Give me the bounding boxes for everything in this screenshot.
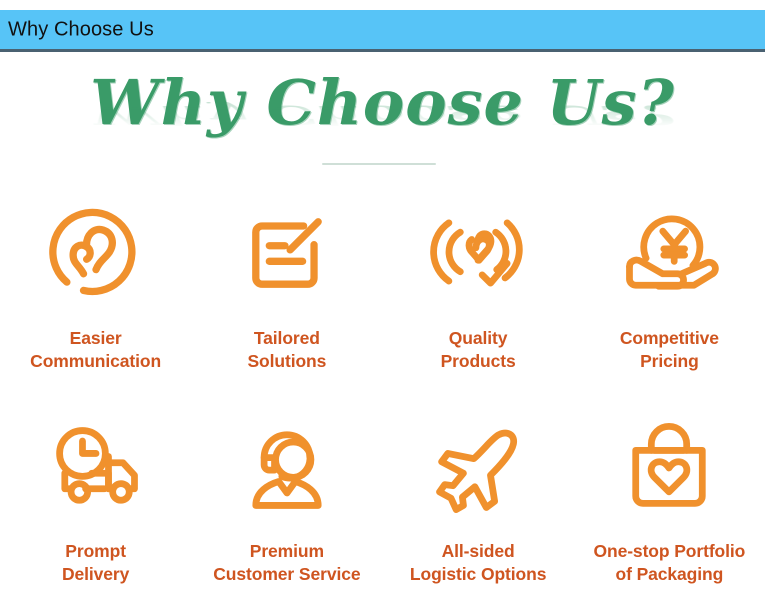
feature-label: Tailored Solutions	[247, 327, 326, 374]
window-title: Why Choose Us	[8, 18, 154, 41]
quality-products-icon	[426, 201, 530, 305]
all-sided-logistic-options-icon	[426, 416, 530, 520]
feature-item-easier-communication[interactable]: Easier Communication	[0, 195, 191, 410]
features-grid: Easier Communication Tailored Solutions	[0, 195, 765, 599]
easier-communication-icon	[44, 201, 148, 305]
feature-label: All-sided Logistic Options	[410, 540, 546, 587]
title-divider	[322, 163, 436, 165]
feature-item-premium-customer-service[interactable]: Premium Customer Service	[191, 410, 382, 599]
feature-label: Competitive Pricing	[620, 327, 719, 374]
feature-item-prompt-delivery[interactable]: Prompt Delivery	[0, 410, 191, 599]
feature-item-all-sided-logistic-options[interactable]: All-sided Logistic Options	[383, 410, 574, 599]
feature-label: Quality Products	[441, 327, 516, 374]
hero-section: Why Choose Us? Why Choose Us?	[0, 60, 765, 170]
prompt-delivery-icon	[44, 416, 148, 520]
tailored-solutions-icon	[235, 201, 339, 305]
feature-item-one-stop-portfolio-of-packaging[interactable]: One-stop Portfolio of Packaging	[574, 410, 765, 599]
feature-label: One-stop Portfolio of Packaging	[593, 540, 745, 587]
page-title-reflection: Why Choose Us?	[0, 102, 765, 128]
competitive-pricing-icon	[617, 201, 721, 305]
feature-item-tailored-solutions[interactable]: Tailored Solutions	[191, 195, 382, 410]
one-stop-portfolio-of-packaging-icon	[617, 416, 721, 520]
page-root: Why Choose Us Why Choose Us? Why Choose …	[0, 0, 765, 599]
premium-customer-service-icon	[235, 416, 339, 520]
feature-label: Premium Customer Service	[213, 540, 360, 587]
feature-item-competitive-pricing[interactable]: Competitive Pricing	[574, 195, 765, 410]
window-titlebar: Why Choose Us	[0, 10, 765, 52]
feature-item-quality-products[interactable]: Quality Products	[383, 195, 574, 410]
feature-label: Prompt Delivery	[62, 540, 129, 587]
feature-label: Easier Communication	[30, 327, 161, 374]
